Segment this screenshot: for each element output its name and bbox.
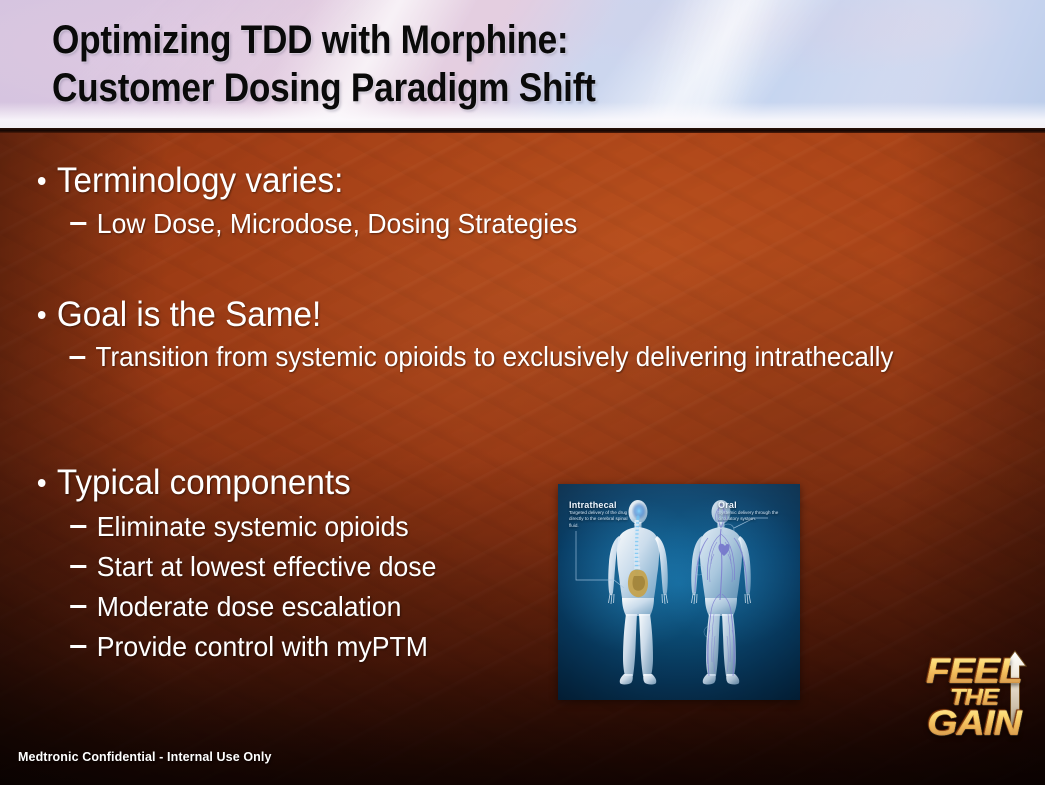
bullet-level2: Moderate dose escalation [36, 589, 948, 624]
bullet-dash-icon [70, 222, 86, 225]
bullet-level2-label: Provide control with myPTM [97, 631, 428, 662]
bullet-level2-label: Transition from systemic opioids to excl… [96, 341, 894, 372]
bullet-dash-icon [70, 565, 86, 568]
bullet-level2: Low Dose, Microdose, Dosing Strategies [36, 206, 948, 241]
bullet-level2-label: Eliminate systemic opioids [97, 511, 409, 542]
bullet-dot-icon [38, 311, 46, 319]
bullet-level2: Start at lowest effective dose [36, 549, 948, 584]
bullet-level1: Typical components [36, 462, 948, 504]
image-label-title: Intrathecal [569, 500, 635, 510]
drug-delivery-diagram-image: Intrathecal Targeted delivery of the dru… [558, 484, 800, 700]
bullet-dot-icon [38, 177, 46, 185]
bullet-group-goal: Goal is the Same! Transition from system… [36, 294, 996, 373]
presentation-slide: Optimizing TDD with Morphine: Customer D… [0, 0, 1045, 785]
image-label-caption: Systemic delivery through the circulator… [718, 510, 784, 523]
bullet-dash-icon [70, 605, 86, 608]
slide-title: Optimizing TDD with Morphine: Customer D… [52, 16, 844, 112]
bullet-dash-icon [69, 356, 85, 359]
feel-the-gain-logo: FEEL THE GAIN [928, 648, 1036, 744]
confidentiality-footer: Medtronic Confidential - Internal Use On… [18, 750, 272, 764]
bullet-level1-label: Goal is the Same! [57, 295, 321, 334]
bullet-dot-icon [38, 479, 46, 487]
bullet-dash-icon [70, 525, 86, 528]
bullet-level2: Eliminate systemic opioids [36, 509, 948, 544]
bullet-level2-label: Low Dose, Microdose, Dosing Strategies [97, 208, 578, 239]
bullet-level2-label: Start at lowest effective dose [97, 551, 437, 582]
figure-oral [691, 500, 768, 685]
bullet-level1-label: Terminology varies: [57, 161, 343, 200]
bullet-group-components: Typical components Eliminate systemic op… [36, 462, 996, 664]
bullet-level2-label: Moderate dose escalation [97, 591, 402, 622]
bullet-group-terminology: Terminology varies: Low Dose, Microdose,… [36, 160, 996, 241]
bullet-level2: Provide control with myPTM [36, 629, 948, 664]
image-label-title: Oral [718, 500, 784, 510]
slide-body: Terminology varies: Low Dose, Microdose,… [0, 128, 1045, 785]
bullet-dash-icon [70, 645, 86, 648]
image-label-caption: Targeted delivery of the drug directly t… [569, 510, 635, 529]
image-label-oral: Oral Systemic delivery through the circu… [718, 500, 784, 523]
bullet-level1: Terminology varies: [36, 160, 948, 202]
bullet-level2: Transition from systemic opioids to excl… [36, 340, 937, 373]
bullet-level1-label: Typical components [57, 463, 351, 502]
bullet-level1: Goal is the Same! [36, 294, 948, 336]
logo-line-gain: GAIN [922, 704, 1025, 744]
image-label-intrathecal: Intrathecal Targeted delivery of the dru… [569, 500, 635, 529]
